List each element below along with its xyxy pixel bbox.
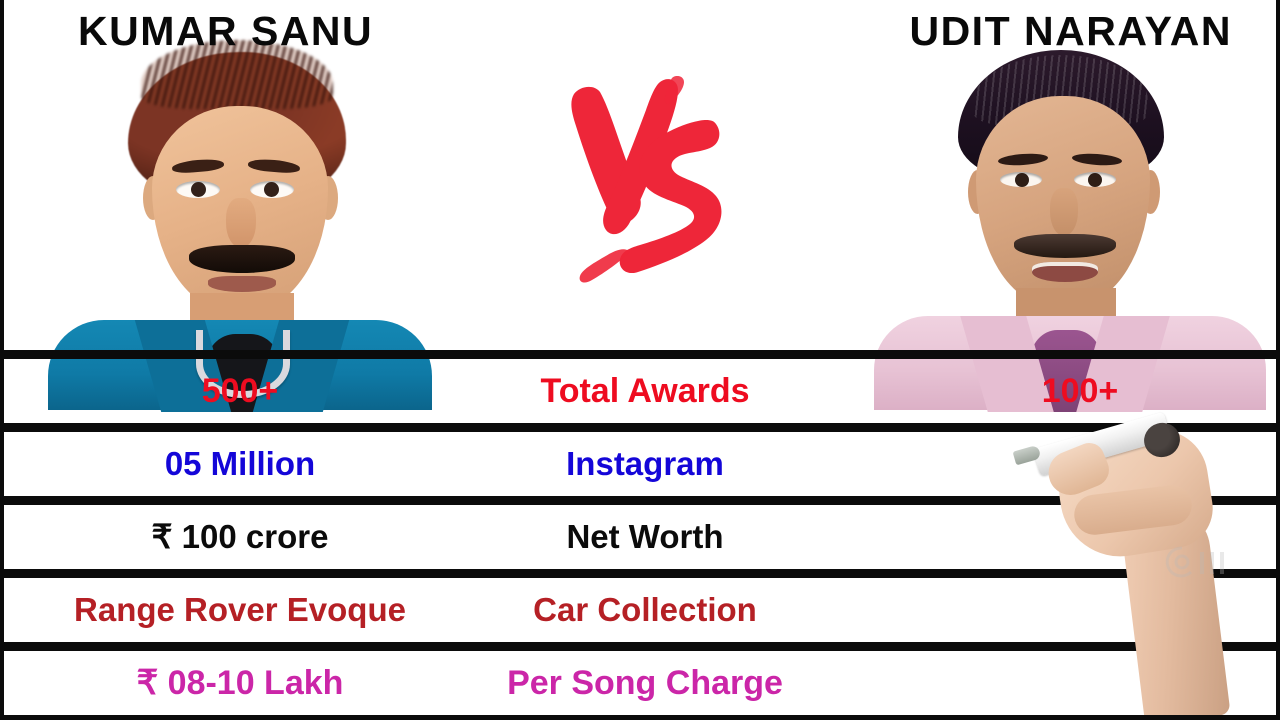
row-left-value: 05 Million [0,432,480,496]
pupil-left [1015,173,1029,187]
moustache [189,245,295,273]
right-person-title: UDIT NARAYAN [909,8,1232,55]
row-left-value: ₹ 100 crore [0,505,480,569]
row-label: Instagram [480,432,810,496]
frame-edge-left [0,0,4,720]
frame-edge-bottom [0,715,1280,720]
row-left-value: ₹ 08-10 Lakh [0,651,480,715]
pupil-right [1088,173,1102,187]
nose [226,198,256,248]
left-person-title: KUMAR SANU [78,8,373,55]
left-portrait-kumar-sanu [30,48,450,353]
right-portrait-udit-narayan [870,48,1270,353]
watermark-icon [1160,540,1232,586]
mouth [208,276,276,292]
row-left-value: 500+ [0,359,480,423]
row-label: Net Worth [480,505,810,569]
row-label: Car Collection [480,578,810,642]
versus-icon [556,76,740,288]
pupil-left [191,182,206,197]
row-left-value: Range Rover Evoque [0,578,480,642]
table-rule [0,350,1280,359]
mouth [1032,262,1098,282]
nose [1050,188,1078,236]
row-label: Per Song Charge [480,651,810,715]
frame-edge-right [1276,0,1280,720]
row-label: Total Awards [480,359,810,423]
hand-with-marker-icon [982,412,1280,720]
moustache [1014,234,1116,258]
infographic-canvas: KUMAR SANU UDIT NARAYAN [0,0,1280,720]
pupil-right [264,182,279,197]
